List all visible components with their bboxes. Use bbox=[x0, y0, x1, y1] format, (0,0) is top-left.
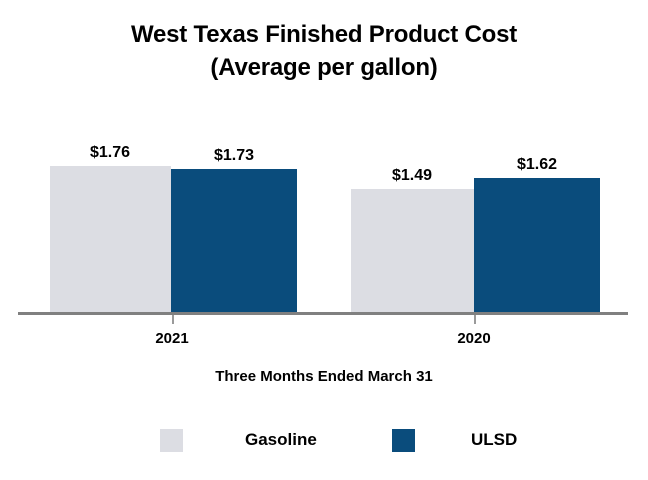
chart-title: West Texas Finished Product Cost (Averag… bbox=[0, 18, 648, 84]
x-axis-title: Three Months Ended March 31 bbox=[0, 368, 648, 385]
bar-ulsd-2021[interactable] bbox=[171, 169, 297, 312]
legend-item-gasoline[interactable]: Gasoline bbox=[160, 424, 317, 456]
legend-item-ulsd[interactable]: ULSD bbox=[392, 424, 517, 456]
category-axis-line bbox=[18, 312, 628, 315]
data-label-ulsd-2020: $1.62 bbox=[517, 156, 557, 174]
legend-swatch-gasoline-icon bbox=[160, 429, 183, 452]
legend-label-gasoline: Gasoline bbox=[245, 430, 317, 450]
chart-legend: Gasoline ULSD bbox=[0, 424, 648, 456]
axis-label-2020: 2020 bbox=[457, 330, 490, 347]
bar-chart: West Texas Finished Product Cost (Averag… bbox=[0, 0, 648, 480]
legend-swatch-ulsd-icon bbox=[392, 429, 415, 452]
bar-gasoline-2021[interactable] bbox=[50, 166, 171, 312]
data-label-gasoline-2021: $1.76 bbox=[90, 144, 130, 162]
plot-area: $1.76 $1.73 $1.49 $1.62 bbox=[0, 130, 648, 320]
axis-tick-2021 bbox=[172, 315, 174, 324]
bar-ulsd-2020[interactable] bbox=[474, 178, 600, 312]
axis-label-2021: 2021 bbox=[155, 330, 188, 347]
legend-label-ulsd: ULSD bbox=[471, 430, 517, 450]
axis-tick-2020 bbox=[474, 315, 476, 324]
chart-title-line-1: West Texas Finished Product Cost bbox=[0, 18, 648, 51]
bar-gasoline-2020[interactable] bbox=[351, 189, 474, 312]
chart-title-line-2: (Average per gallon) bbox=[0, 51, 648, 84]
data-label-gasoline-2020: $1.49 bbox=[392, 167, 432, 185]
data-label-ulsd-2021: $1.73 bbox=[214, 147, 254, 165]
